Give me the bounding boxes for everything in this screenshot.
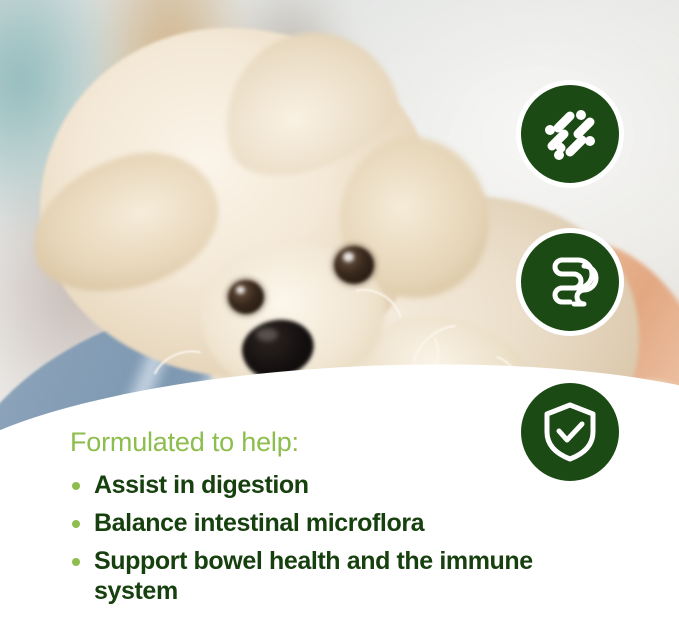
shield-check-icon <box>541 401 599 463</box>
dog-eye-glint <box>343 252 354 262</box>
badge-shield <box>516 378 624 486</box>
benefit-label: Assist in digestion <box>94 470 309 500</box>
bullet-dot-icon <box>72 482 80 490</box>
dog-nose-highlight <box>256 328 278 341</box>
dog-eye-glint <box>236 286 245 294</box>
list-item: Balance intestinal microflora <box>70 508 610 538</box>
benefit-list: Assist in digestion Balance intestinal m… <box>70 470 610 606</box>
badge-probiotic <box>516 80 624 188</box>
bullet-dot-icon <box>72 520 80 528</box>
intestine-icon <box>540 252 600 312</box>
bullet-dot-icon <box>72 558 80 566</box>
product-benefit-card: Formulated to help: Assist in digestion … <box>0 0 679 638</box>
probiotic-bacteria-icon <box>538 102 602 166</box>
list-item: Assist in digestion <box>70 470 610 500</box>
dog-left-eye <box>228 280 264 314</box>
badge-gut <box>516 228 624 336</box>
benefit-label: Support bowel health and the immune syst… <box>94 546 610 606</box>
benefit-label: Balance intestinal microflora <box>94 508 424 538</box>
dog-right-eye <box>334 246 374 284</box>
list-item: Support bowel health and the immune syst… <box>70 546 610 606</box>
